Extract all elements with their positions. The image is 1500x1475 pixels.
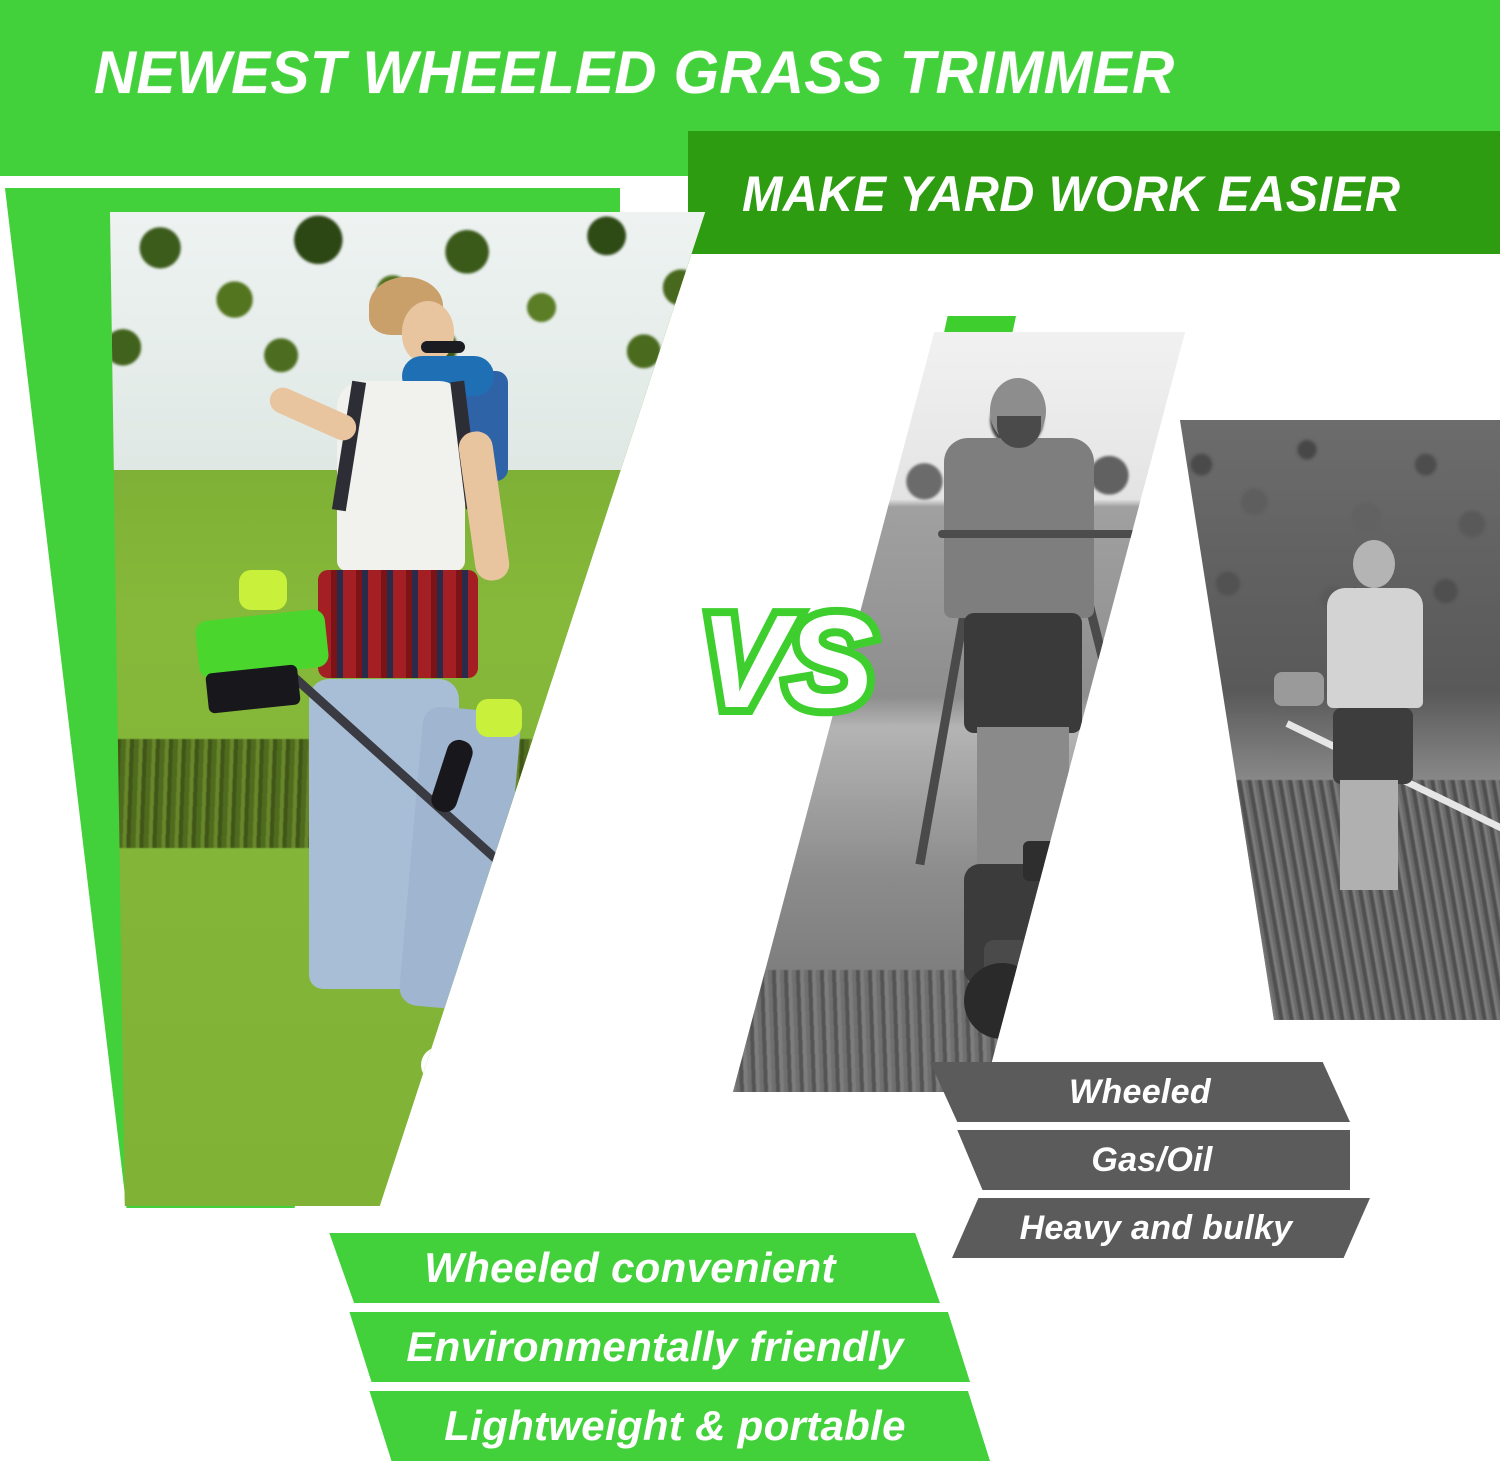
- pro-feature-bar-3: Lightweight & portable: [360, 1391, 990, 1461]
- con-feature-label-3: Heavy and bulky: [1020, 1209, 1293, 1248]
- pro-feature-bar-1: Wheeled convenient: [320, 1233, 940, 1303]
- con-feature-label-2: Gas/Oil: [1091, 1141, 1212, 1180]
- pro-feature-label-1: Wheeled convenient: [424, 1244, 835, 1292]
- con-feature-bar-3: Heavy and bulky: [930, 1198, 1370, 1258]
- vs-badge: VS: [700, 596, 872, 728]
- photo-backpack-string-trimmer-bw: [1175, 420, 1500, 1020]
- con-feature-bar-1: Wheeled: [930, 1062, 1350, 1122]
- pro-feature-label-3: Lightweight & portable: [444, 1402, 906, 1450]
- pro-feature-bar-2: Environmentally friendly: [340, 1312, 970, 1382]
- con-feature-bar-2: Gas/Oil: [930, 1130, 1350, 1190]
- pro-feature-label-2: Environmentally friendly: [406, 1323, 903, 1371]
- page-title: NEWEST WHEELED GRASS TRIMMER: [94, 38, 1175, 107]
- page-subtitle: MAKE YARD WORK EASIER: [742, 165, 1400, 223]
- product-comparison-infographic: NEWEST WHEELED GRASS TRIMMER MAKE YARD W…: [0, 0, 1500, 1475]
- con-feature-label-1: Wheeled: [1069, 1073, 1211, 1112]
